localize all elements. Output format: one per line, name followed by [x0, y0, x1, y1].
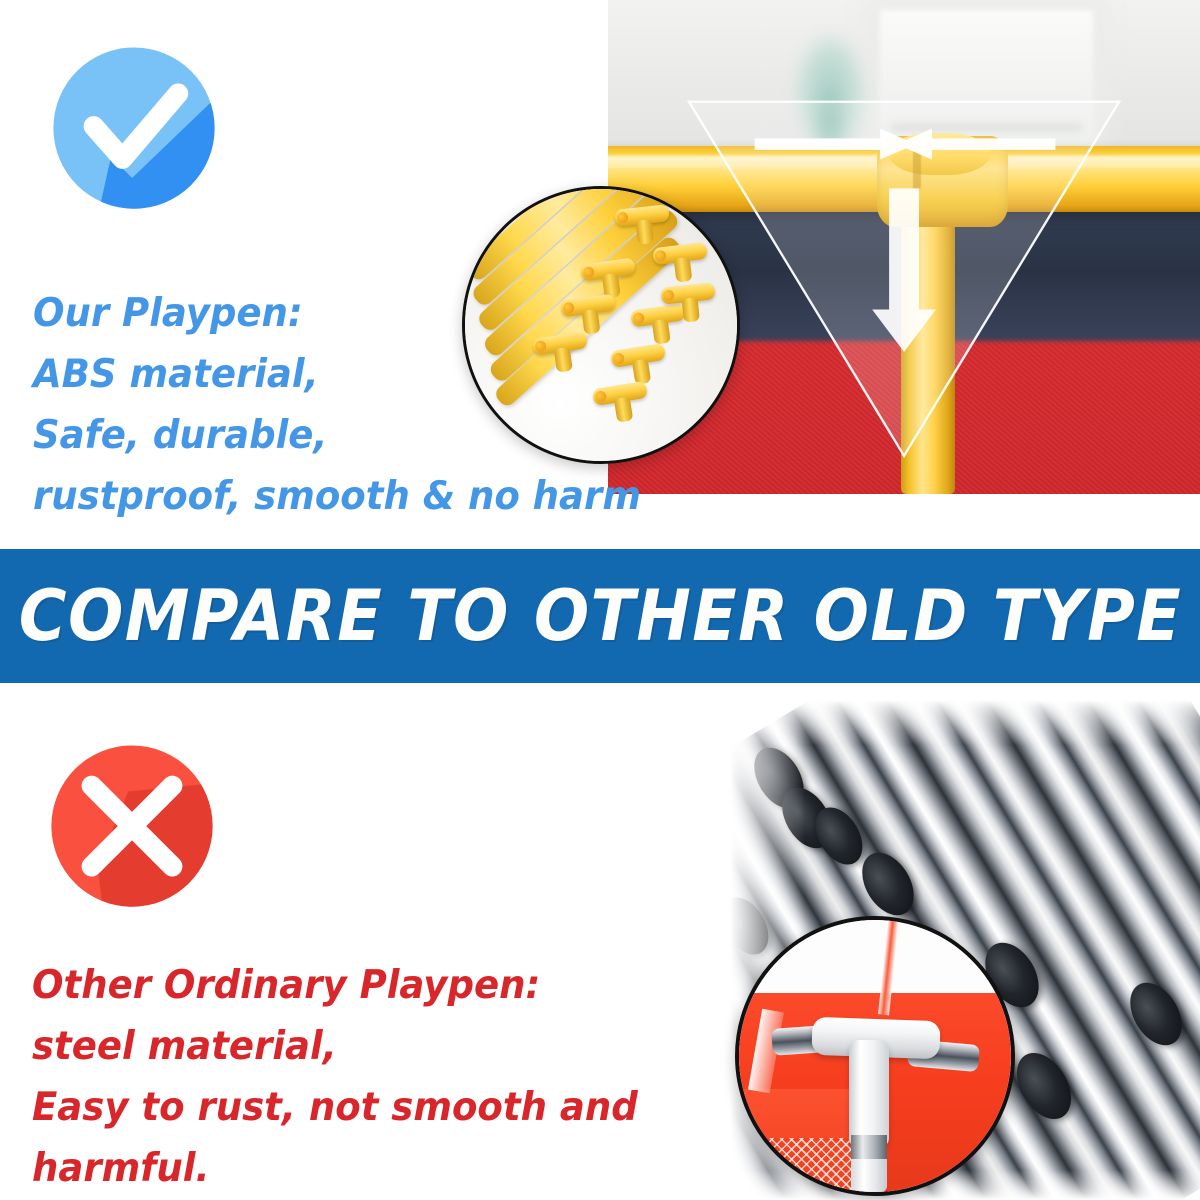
steel-tube-bottom-band — [851, 1135, 888, 1159]
steel-joint-inset — [735, 916, 1015, 1196]
bad-line-1: Other Ordinary Playpen: — [32, 955, 638, 1016]
white-t-joint-vertical — [849, 1040, 888, 1149]
good-line-2: ABS material, — [33, 344, 641, 405]
cross-circle-icon — [36, 732, 228, 924]
good-line-1: Our Playpen: — [33, 283, 641, 344]
compare-banner-text: COMPARE TO OTHER OLD TYPE — [18, 575, 1181, 657]
compare-banner: COMPARE TO OTHER OLD TYPE — [0, 549, 1200, 683]
check-circle-icon — [38, 34, 230, 226]
bad-text-block: Other Ordinary Playpen: steel material, … — [32, 955, 670, 1199]
bad-line-2: steel material, — [32, 1016, 638, 1077]
bad-line-4: harmful. — [32, 1138, 638, 1199]
triangle-overlay — [685, 96, 1123, 462]
photo-top-fade — [730, 700, 1200, 745]
bad-line-3: Easy to rust, not smooth and — [32, 1077, 638, 1138]
infographic-root: Our Playpen: ABS material, Safe, durable… — [0, 0, 1200, 1200]
steel-tube-bottom — [851, 1159, 888, 1192]
playpen-mesh-panel — [744, 1138, 858, 1192]
good-line-4: rustproof, smooth & no harm — [33, 466, 641, 527]
good-text-block: Our Playpen: ABS material, Safe, durable… — [33, 283, 673, 527]
good-line-3: Safe, durable, — [33, 405, 641, 466]
